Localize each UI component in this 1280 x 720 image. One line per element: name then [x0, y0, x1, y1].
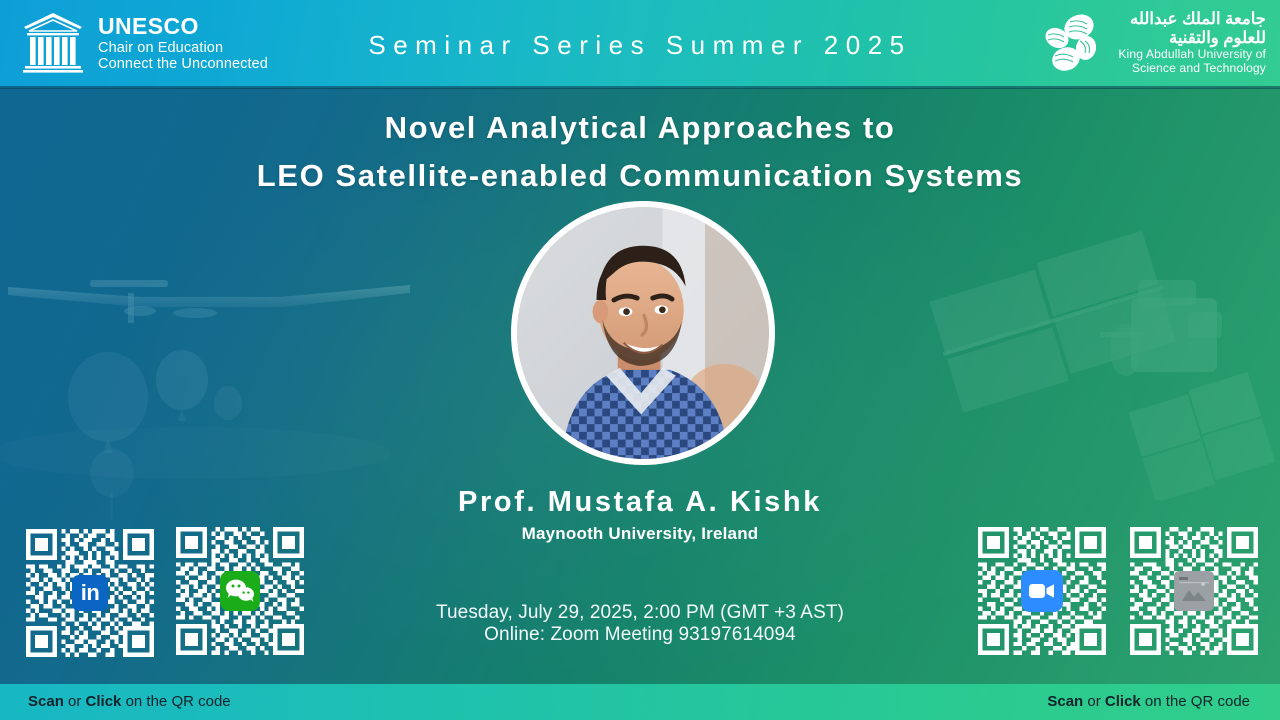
speaker-name: Prof. Mustafa A. Kishk — [0, 486, 1280, 519]
document-preview-glyph — [1176, 573, 1212, 609]
qr-code-zoom[interactable] — [978, 527, 1106, 655]
header-divider — [0, 86, 1280, 89]
kaust-logo-icon — [1039, 8, 1107, 78]
footer-left-tail: on the QR code — [121, 693, 230, 710]
qr-code-wechat[interactable] — [176, 527, 304, 655]
linkedin-badge-label: in — [81, 582, 100, 604]
kaust-branding: جامعة الملك عبدالله للعلوم والتقنية King… — [1039, 8, 1266, 78]
footer-hint-right: Scan or Click on the QR code — [1047, 693, 1250, 710]
kaust-english-line1: King Abdullah University of — [1118, 48, 1266, 62]
haps-glider-icon — [0, 225, 430, 525]
talk-title-line2: LEO Satellite-enabled Communication Syst… — [0, 152, 1280, 200]
wechat-bubbles-icon — [225, 578, 255, 604]
footer-left-or: or — [64, 693, 86, 710]
footer-right-or: or — [1083, 693, 1105, 710]
kaust-english-line2: Science and Technology — [1118, 62, 1266, 76]
footer-right-click: Click — [1105, 693, 1141, 710]
qr-code-document[interactable] — [1130, 527, 1258, 655]
page-title: Novel Analytical Approaches to LEO Satel… — [0, 104, 1280, 200]
avatar — [511, 201, 775, 465]
kaust-arabic-line1: جامعة الملك عبدالله — [1118, 10, 1266, 29]
wechat-icon — [220, 571, 260, 611]
document-thumbnail-icon — [1174, 571, 1214, 611]
satellite-icon — [888, 220, 1280, 500]
footer-right-tail: on the QR code — [1141, 693, 1250, 710]
portrait-illustration — [517, 207, 769, 459]
qr-code-linkedin[interactable]: in — [26, 529, 154, 657]
seminar-poster: UNESCO Chair on Education Connect the Un… — [0, 0, 1280, 720]
footer-hint-left: Scan or Click on the QR code — [28, 693, 231, 710]
talk-title-line1: Novel Analytical Approaches to — [385, 110, 896, 145]
speaker-portrait — [517, 207, 769, 459]
linkedin-icon: in — [72, 575, 108, 611]
footer-left-click: Click — [86, 693, 122, 710]
footer-right-scan: Scan — [1047, 693, 1083, 710]
video-camera-glyph — [1029, 583, 1055, 599]
zoom-camera-icon — [1021, 570, 1063, 612]
kaust-arabic-line2: للعلوم والتقنية — [1118, 29, 1266, 48]
footer-left-scan: Scan — [28, 693, 64, 710]
